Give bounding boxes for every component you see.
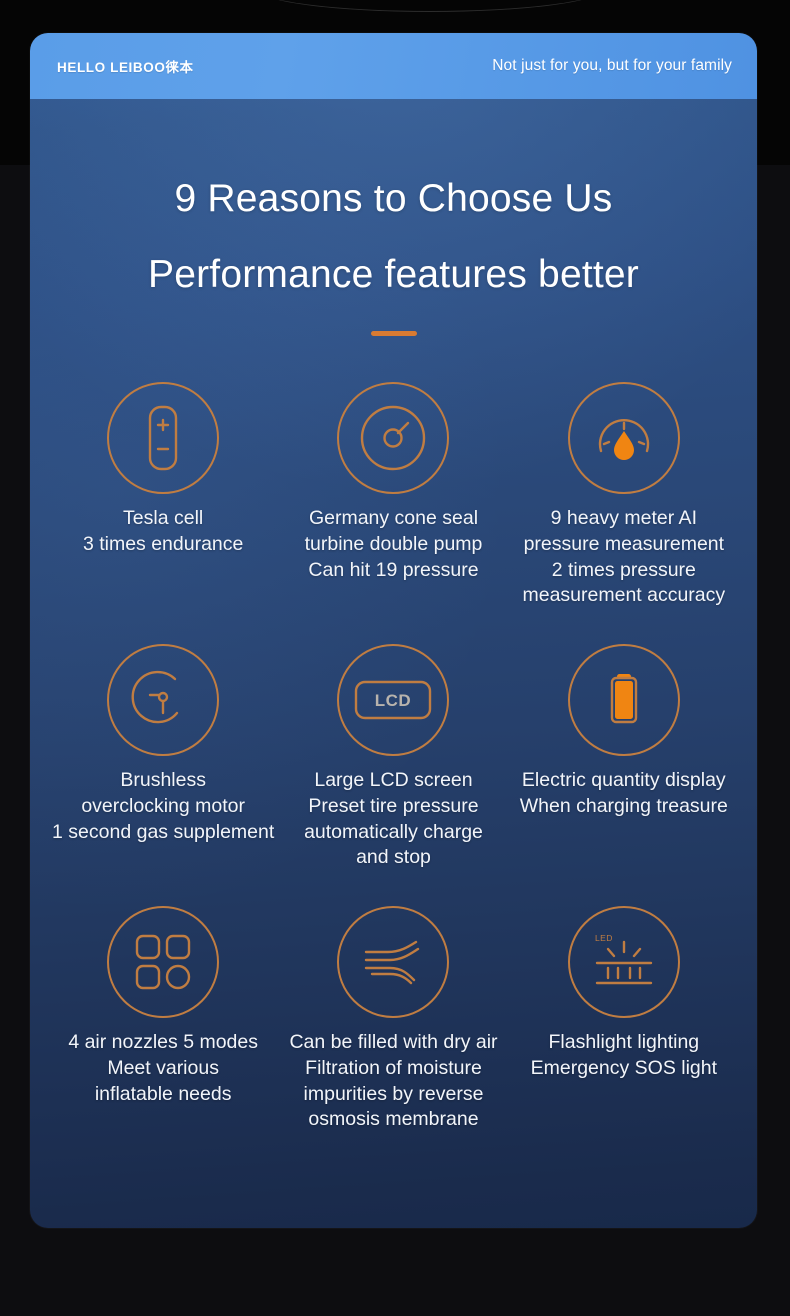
feature-line: Preset tire pressure (304, 794, 483, 820)
feature-line: When charging treasure (520, 794, 728, 820)
feature-caption: Electric quantity display When charging … (520, 768, 728, 819)
feature-line: turbine double pump (305, 532, 483, 558)
feature-line: Brushless (52, 768, 274, 794)
feature-line: Large LCD screen (304, 768, 483, 794)
feature-item: Can be filled with dry air Filtration of… (278, 906, 508, 1168)
feature-line: 2 times pressure (522, 558, 725, 584)
backdrop-arc (255, 0, 605, 12)
feature-line: inflatable needs (68, 1082, 258, 1108)
feature-item: Germany cone seal turbine double pump Ca… (278, 382, 508, 644)
feature-line: osmosis membrane (289, 1107, 497, 1133)
feature-line: impurities by reverse (289, 1082, 497, 1108)
feature-line: 3 times endurance (83, 532, 243, 558)
feature-line: Electric quantity display (520, 768, 728, 794)
feature-line: pressure measurement (522, 532, 725, 558)
card-header: HELLO LEIBOO徕本 Not just for you, but for… (30, 33, 757, 99)
feature-caption: 4 air nozzles 5 modes Meet various infla… (68, 1030, 258, 1107)
feature-line: measurement accuracy (522, 583, 725, 609)
feature-item: 9 heavy meter AI pressure measurement 2 … (509, 382, 739, 644)
feature-line: 9 heavy meter AI (522, 506, 725, 532)
tagline-label: Not just for you, but for your family (492, 57, 732, 75)
feature-caption: 9 heavy meter AI pressure measurement 2 … (522, 506, 725, 609)
page-title-line-2: Performance features better (30, 237, 757, 313)
feature-item: Brushless overclocking motor 1 second ga… (48, 644, 278, 906)
feature-line: Meet various (68, 1056, 258, 1082)
feature-caption: Flashlight lighting Emergency SOS light (531, 1030, 717, 1081)
feature-caption: Brushless overclocking motor 1 second ga… (52, 768, 274, 845)
page-title-line-1: 9 Reasons to Choose Us (30, 161, 757, 237)
feature-caption: Large LCD screen Preset tire pressure au… (304, 768, 483, 871)
feature-caption: Tesla cell 3 times endurance (83, 506, 243, 557)
brand-label: HELLO LEIBOO徕本 (57, 56, 194, 76)
feature-line: and stop (304, 845, 483, 871)
feature-line: 1 second gas supplement (52, 820, 274, 846)
feature-item: Electric quantity display When charging … (509, 644, 739, 906)
feature-item: LED Flashlight lighting Emergency (509, 906, 739, 1168)
lcd-badge-label: LCD (375, 691, 411, 710)
feature-caption: Can be filled with dry air Filtration of… (289, 1030, 497, 1133)
hero-titles: 9 Reasons to Choose Us Performance featu… (30, 99, 757, 336)
feature-caption: Germany cone seal turbine double pump Ca… (305, 506, 483, 583)
lcd-screen-icon: LCD (337, 644, 449, 756)
feature-line: overclocking motor (52, 794, 274, 820)
battery-cell-icon (107, 382, 219, 494)
gauge-droplet-icon (568, 382, 680, 494)
led-flashlight-icon: LED (568, 906, 680, 1018)
four-modes-icon (107, 906, 219, 1018)
feature-line: Can hit 19 pressure (305, 558, 483, 584)
led-badge-label: LED (595, 933, 613, 943)
feature-grid: Tesla cell 3 times endurance Germany con… (30, 382, 757, 1168)
promo-card: HELLO LEIBOO徕本 Not just for you, but for… (30, 33, 757, 1228)
feature-line: Can be filled with dry air (289, 1030, 497, 1056)
feature-line: automatically charge (304, 820, 483, 846)
title-divider (371, 331, 417, 336)
airflow-filter-icon (337, 906, 449, 1018)
feature-line: Tesla cell (83, 506, 243, 532)
pressure-dial-icon (337, 382, 449, 494)
brushless-motor-icon (107, 644, 219, 756)
page-root: HELLO LEIBOO徕本 Not just for you, but for… (0, 0, 790, 1316)
feature-item: Tesla cell 3 times endurance (48, 382, 278, 644)
feature-line: 4 air nozzles 5 modes (68, 1030, 258, 1056)
feature-line: Filtration of moisture (289, 1056, 497, 1082)
battery-level-icon (568, 644, 680, 756)
feature-item: LCD Large LCD screen Preset tire pressur… (278, 644, 508, 906)
feature-line: Emergency SOS light (531, 1056, 717, 1082)
feature-line: Flashlight lighting (531, 1030, 717, 1056)
feature-line: Germany cone seal (305, 506, 483, 532)
feature-item: 4 air nozzles 5 modes Meet various infla… (48, 906, 278, 1168)
